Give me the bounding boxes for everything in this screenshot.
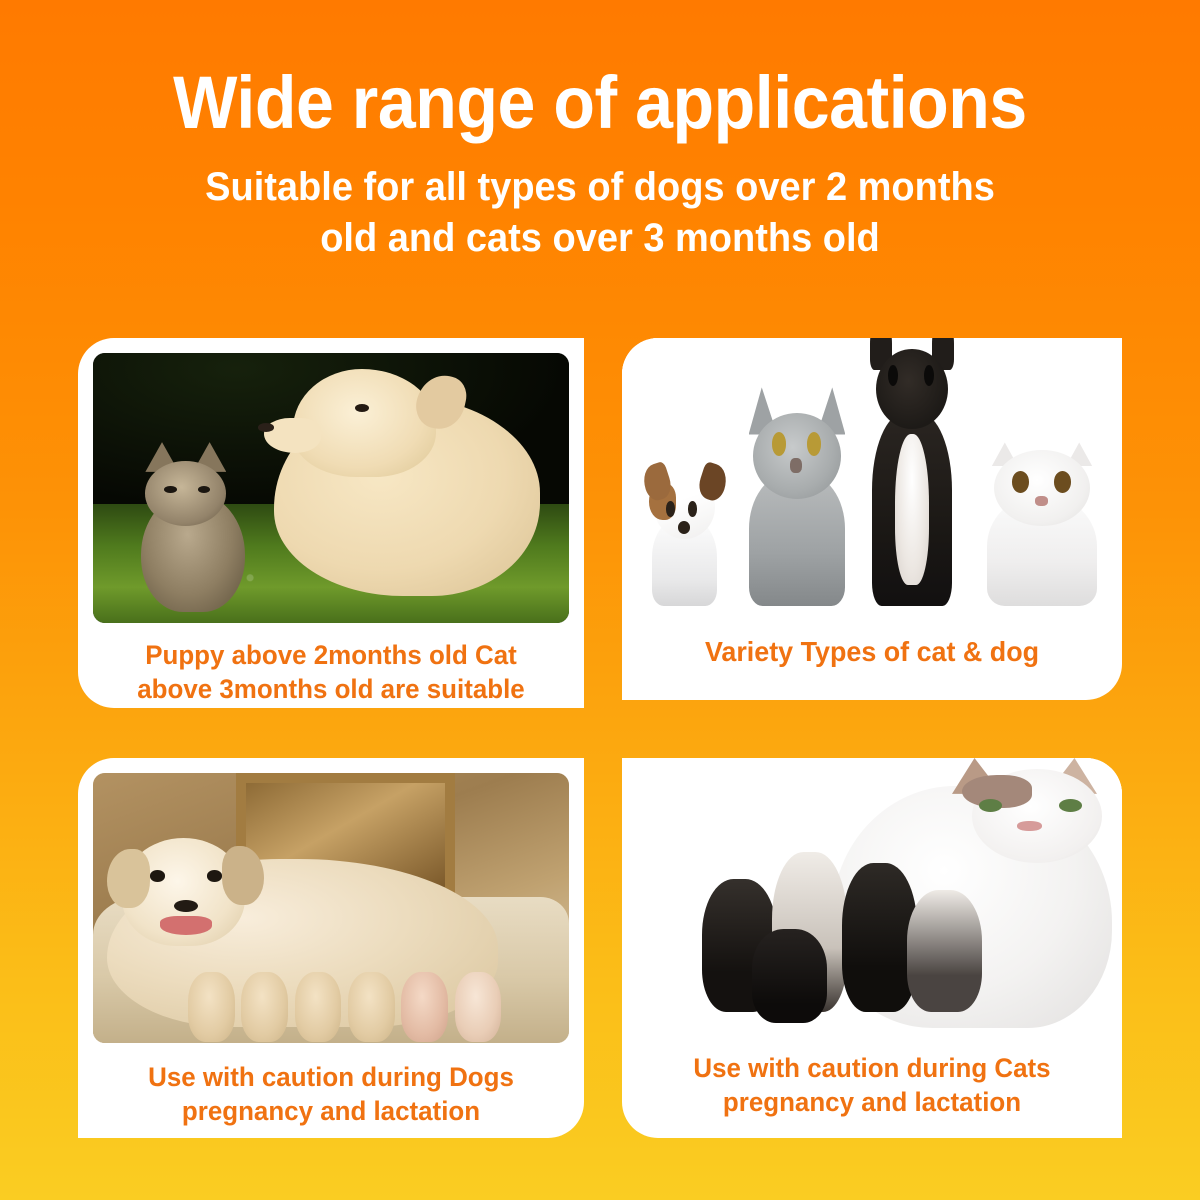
black-french-bulldog xyxy=(862,338,962,606)
puppy xyxy=(401,972,448,1042)
puppy-eye-left xyxy=(666,501,675,516)
subtitle-line-1: Suitable for all types of dogs over 2 mo… xyxy=(205,165,995,209)
card-grid: Puppy above 2months old Cat above 3month… xyxy=(78,338,1122,1138)
card-caption-puppy-kitten: Puppy above 2months old Cat above 3month… xyxy=(88,623,574,707)
puppy xyxy=(348,972,395,1042)
mother-dog-ear-left xyxy=(107,849,150,908)
mother-dog-tongue xyxy=(160,916,212,935)
card-variety-types[interactable]: Variety Types of cat & dog xyxy=(622,338,1122,700)
cat-eye-left xyxy=(1012,471,1029,493)
kitten xyxy=(907,890,982,1011)
dog-eye-right xyxy=(924,365,934,386)
cat-head xyxy=(994,450,1090,526)
card-caption-variety-types: Variety Types of cat & dog xyxy=(632,606,1112,669)
puppy-nose xyxy=(258,423,274,432)
subtitle-line-2: old and cats over 3 months old xyxy=(320,216,880,260)
header: Wide range of applications Suitable for … xyxy=(0,0,1200,264)
puppy-snout xyxy=(264,418,321,453)
card-image-cat-pregnancy xyxy=(622,758,1122,1034)
card-image-dog-pregnancy xyxy=(93,773,569,1043)
puppy-nose xyxy=(678,521,690,534)
page-subtitle: Suitable for all types of dogs over 2 mo… xyxy=(30,140,1170,264)
cat-eye-left xyxy=(772,432,786,456)
card-image-puppy-kitten xyxy=(93,353,569,623)
kitten-head xyxy=(145,461,226,526)
dog-eye-left xyxy=(888,365,898,386)
card-caption-cat-pregnancy: Use with caution during Cats pregnancy a… xyxy=(632,1034,1112,1120)
mother-dog-eye-right xyxy=(207,870,222,881)
kitten xyxy=(752,929,827,1023)
kitten xyxy=(842,863,917,1012)
illustration-variety-pets xyxy=(622,338,1122,606)
cat-head xyxy=(753,413,841,499)
cat-eye-right xyxy=(807,432,821,456)
card-cat-pregnancy[interactable]: Use with caution during Cats pregnancy a… xyxy=(622,758,1122,1138)
puppy xyxy=(295,972,342,1042)
dog-head xyxy=(876,349,948,429)
card-caption-dog-pregnancy: Use with caution during Dogs pregnancy a… xyxy=(88,1043,574,1129)
jack-russell-puppy xyxy=(642,467,727,606)
mother-cat-eye-left xyxy=(979,799,1002,812)
mother-dog-eye-left xyxy=(150,870,165,881)
puppy xyxy=(188,972,235,1042)
puppy xyxy=(241,972,288,1042)
cat-nose xyxy=(1035,496,1048,506)
page-title: Wide range of applications xyxy=(48,0,1152,140)
cat-nose xyxy=(790,458,802,473)
white-exotic-cat xyxy=(982,440,1102,606)
cat-eye-right xyxy=(1054,471,1071,493)
card-puppy-kitten[interactable]: Puppy above 2months old Cat above 3month… xyxy=(78,338,584,708)
grey-shorthair-cat xyxy=(742,392,852,606)
puppy-eye-right xyxy=(688,501,697,516)
puppy xyxy=(455,972,502,1042)
puppy-litter xyxy=(188,967,521,1043)
card-dog-pregnancy[interactable]: Use with caution during Dogs pregnancy a… xyxy=(78,758,584,1138)
illustration-nursing-cat xyxy=(622,758,1122,1034)
mother-dog-nose xyxy=(174,900,198,912)
illustration-nursing-dog xyxy=(93,773,569,1043)
illustration-puppy-kitten xyxy=(93,353,569,623)
card-image-variety-types xyxy=(622,338,1122,606)
poster-root: Wide range of applications Suitable for … xyxy=(0,0,1200,1200)
mother-cat-eye-right xyxy=(1059,799,1082,812)
dog-chest-marking xyxy=(895,434,929,584)
